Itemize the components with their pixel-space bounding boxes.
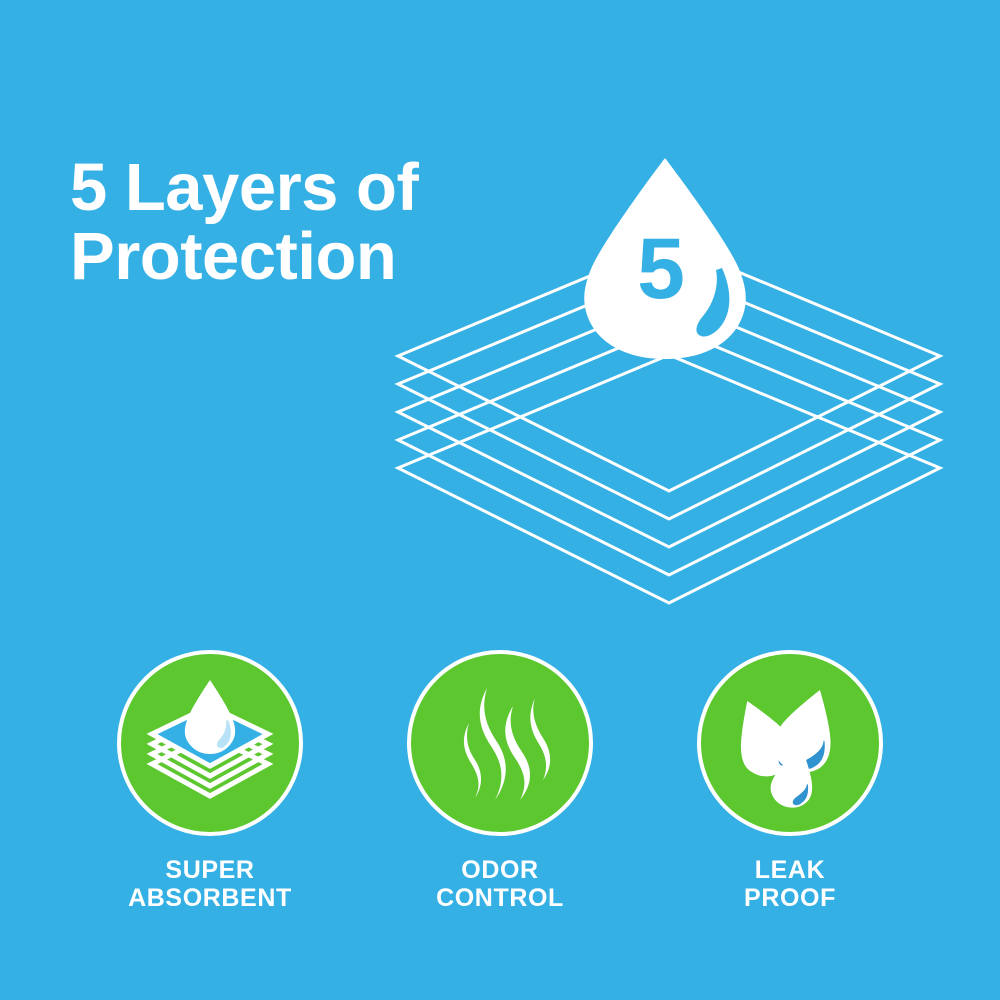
feature-label-super-absorbent: SUPER ABSORBENT: [128, 856, 292, 912]
badge-odor-control[interactable]: [407, 650, 593, 836]
feature-row: SUPER ABSORBENT ODOR CONTROL: [0, 650, 1000, 940]
odor-wave-2: [480, 688, 506, 800]
feature-label-leak-proof: LEAK PROOF: [744, 856, 836, 912]
feature-odor-control[interactable]: ODOR CONTROL: [355, 650, 645, 912]
three-droplets-icon: [715, 668, 865, 818]
odor-wave-3: [505, 706, 530, 800]
droplet-number: 5: [637, 221, 685, 317]
feature-label-odor-control: ODOR CONTROL: [436, 856, 564, 912]
infographic-poster: 5 Layers of Protection 5: [0, 0, 1000, 1000]
badge-leak-proof[interactable]: [697, 650, 883, 836]
badge-super-absorbent[interactable]: [117, 650, 303, 836]
odor-waves-icon: [425, 668, 575, 818]
feature-super-absorbent[interactable]: SUPER ABSORBENT: [65, 650, 355, 912]
droplet-badge: 5: [584, 158, 746, 359]
feature-leak-proof[interactable]: LEAK PROOF: [645, 650, 935, 912]
hero-illustration: 5: [370, 130, 970, 630]
absorbent-layers-droplet-icon: [135, 668, 285, 818]
odor-wave-4: [530, 698, 550, 780]
odor-wave-1: [464, 723, 481, 798]
